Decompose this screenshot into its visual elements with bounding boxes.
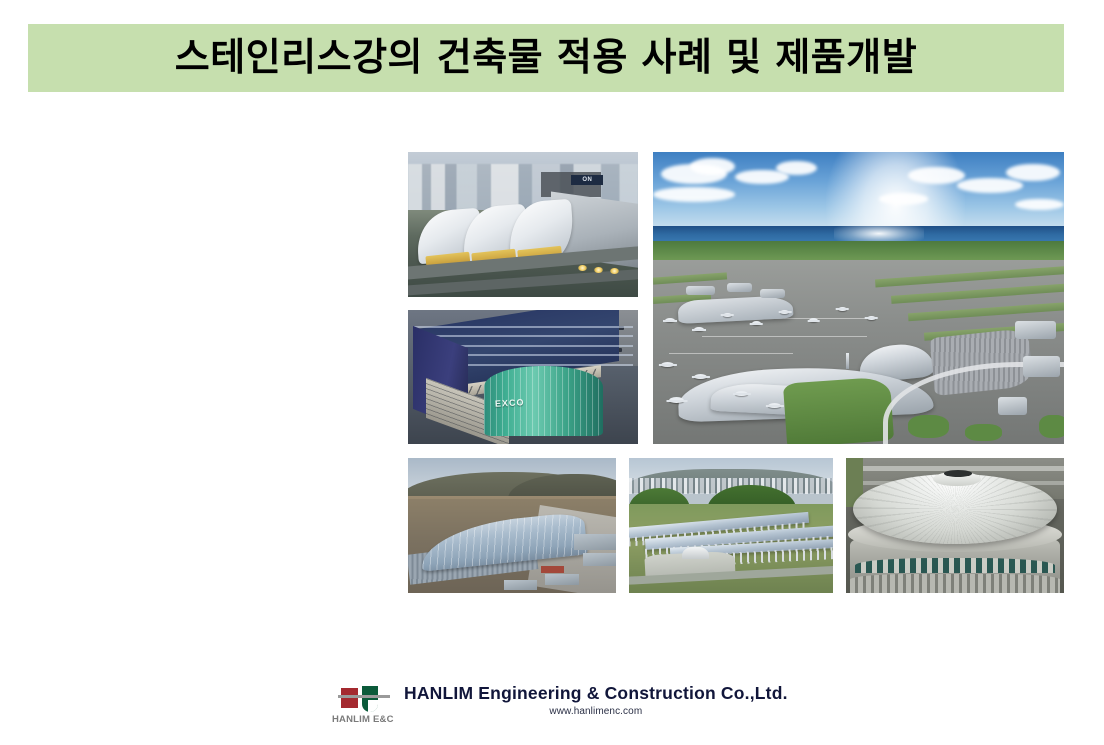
dome-stadium-photo <box>846 458 1064 593</box>
exco-building-photo: EXCO <box>408 310 638 444</box>
railway-station-platform-canopies-photo <box>629 458 833 593</box>
convention-center-aerial-photo: ON <box>408 152 638 297</box>
slide-canvas: 스테인리스강의 건축물 적용 사례 및 제품개발 ON <box>0 0 1104 745</box>
hanlim-logo-icon <box>338 686 392 712</box>
slide-footer: HANLIM E&C HANLIM Engineering & Construc… <box>0 683 1104 745</box>
page-title: 스테인리스강의 건축물 적용 사례 및 제품개발 <box>175 38 917 76</box>
company-logo: HANLIM E&C <box>332 683 396 731</box>
company-website-url: www.hanlimenc.com <box>549 706 642 717</box>
company-name: HANLIM Engineering & Construction Co.,Lt… <box>404 683 788 704</box>
logo-caption: HANLIM E&C <box>332 714 394 725</box>
title-banner: 스테인리스강의 건축물 적용 사례 및 제품개발 <box>28 24 1064 92</box>
airport-terminal-render <box>653 152 1064 444</box>
billboard-text: ON <box>574 177 602 184</box>
railway-station-arched-roof-photo <box>408 458 616 593</box>
